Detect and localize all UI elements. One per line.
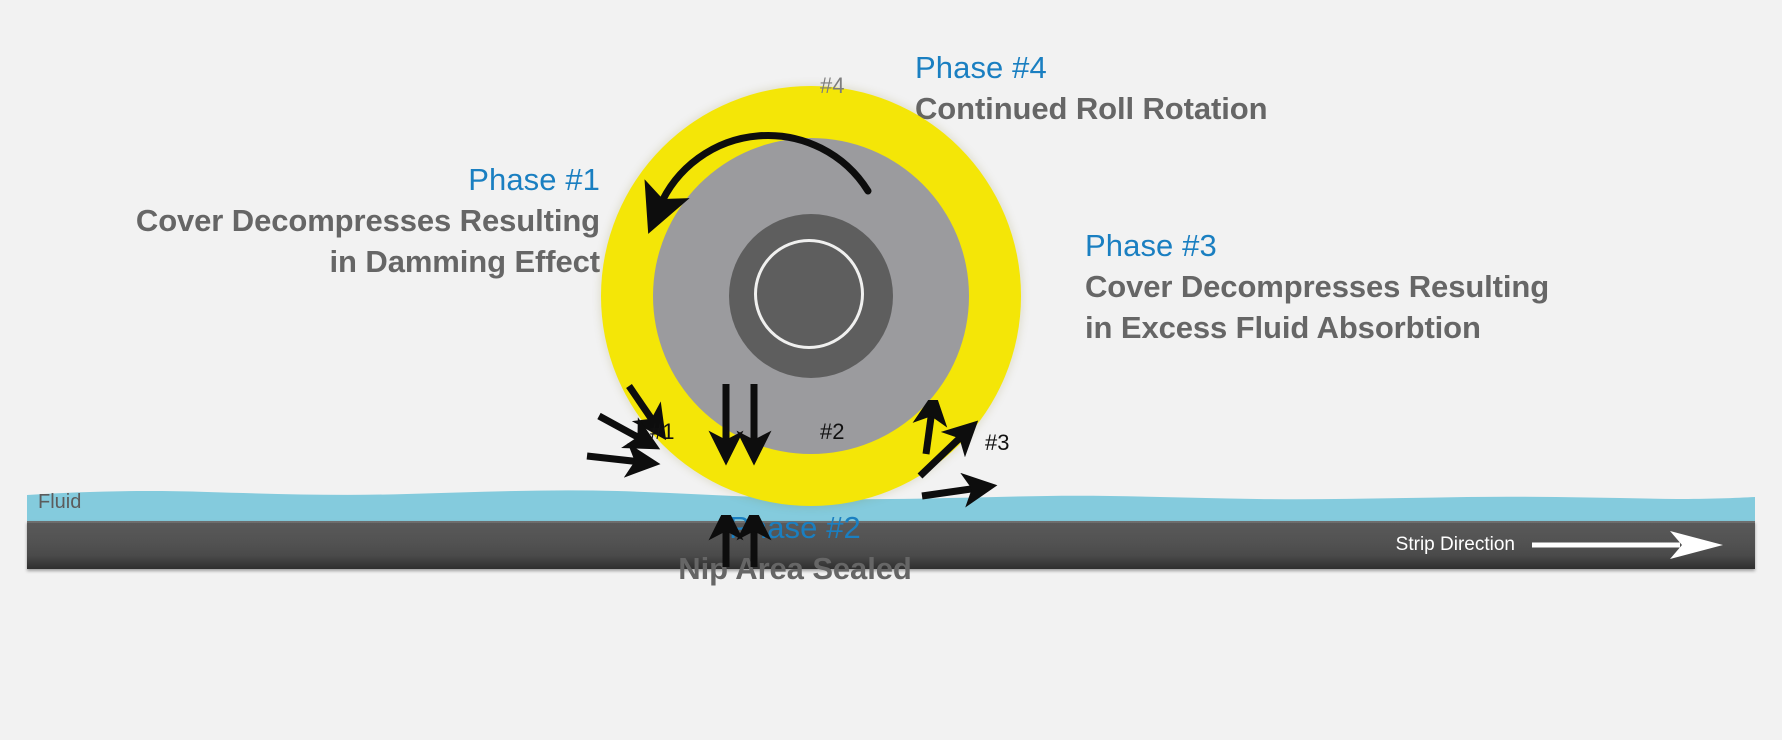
phase4-title: Phase #4 xyxy=(915,48,1555,89)
strip-direction-label: Strip Direction xyxy=(1396,534,1515,556)
phase3-title: Phase #3 xyxy=(1085,226,1725,267)
phase2-description: Nip Area Sealed xyxy=(610,549,980,590)
phase1-title: Phase #1 xyxy=(10,160,600,201)
phase1-marker: #1 xyxy=(650,419,674,445)
phase1-text-block: Phase #1 Cover Decompresses Resulting in… xyxy=(10,160,600,283)
phase3-arrow-group xyxy=(910,400,1030,510)
phase1-description-line1: Cover Decompresses Resulting xyxy=(10,201,600,242)
phase2-text-block: Phase #2 Nip Area Sealed xyxy=(610,508,980,590)
phase2-marker: #2 xyxy=(820,419,844,445)
diagram-canvas: Fluid Strip Direction xyxy=(0,0,1782,740)
phase3-description-line1: Cover Decompresses Resulting xyxy=(1085,267,1725,308)
phase3-description-line2: in Excess Fluid Absorbtion xyxy=(1085,308,1725,349)
phase2-arrow-group-down xyxy=(700,380,790,510)
roll-hub-ring xyxy=(754,239,864,349)
phase2-arrow-group-up xyxy=(700,515,790,575)
phase1-description-line2: in Damming Effect xyxy=(10,242,600,283)
phase3-marker: #3 xyxy=(985,430,1009,456)
phase3-description: Cover Decompresses Resulting in Excess F… xyxy=(1085,267,1725,349)
phase1-description: Cover Decompresses Resulting in Damming … xyxy=(10,201,600,283)
phase2-title: Phase #2 xyxy=(610,508,980,549)
strip-direction-arrow-icon xyxy=(1530,529,1725,561)
phase2-description-line1: Nip Area Sealed xyxy=(610,549,980,590)
phase4-marker: #4 xyxy=(820,73,844,99)
phase3-text-block: Phase #3 Cover Decompresses Resulting in… xyxy=(1085,226,1725,349)
fluid-label: Fluid xyxy=(38,491,81,514)
